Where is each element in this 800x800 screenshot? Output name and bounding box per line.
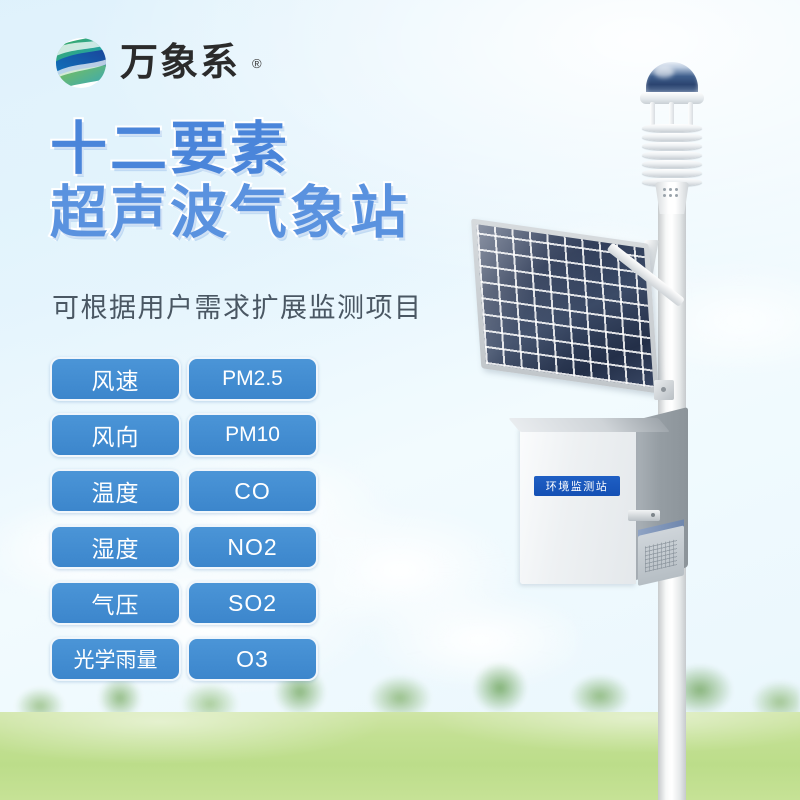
pole-mount-plate [654,380,674,400]
brand-name: 万象系 [120,44,240,82]
headline-line-2: 超声波气象站 [50,182,490,246]
panel-glare [476,224,653,388]
enclosure-top-panel [508,418,670,432]
radiation-shield [642,124,702,186]
brand-lockup: 万象系 ® [52,34,262,92]
ultrasonic-weather-sensor [636,62,708,232]
measurement-tag[interactable]: SO2 [187,581,318,625]
measurement-tag[interactable]: 风向 [50,413,181,457]
subtitle: 可根据用户需求扩展监测项目 [52,286,423,325]
headline-block: 十二要素 超声波气象站 [50,118,490,246]
enclosure-front-panel [520,426,636,584]
measurement-tag[interactable]: 风速 [50,357,181,401]
measurement-tag[interactable]: 气压 [50,581,181,625]
sensor-dome-icon [646,62,698,96]
measurement-tag[interactable]: PM2.5 [187,357,318,401]
measurement-tag[interactable]: NO2 [187,525,318,569]
globe-swirl-logo-icon [52,34,110,92]
enclosure-vent-grille [638,525,684,586]
measurement-tag[interactable]: 湿度 [50,525,181,569]
weather-station-illustration: 环境监测站 [440,40,800,800]
enclosure-latch [628,510,660,521]
sensor-post [650,102,655,126]
product-poster: 环境监测站 [0,0,800,800]
equipment-enclosure: 环境监测站 [520,418,688,588]
headline-line-1: 十二要素 [50,118,490,182]
registered-trademark-icon: ® [252,56,262,71]
sensor-post [669,102,674,126]
measurement-tag[interactable]: 光学雨量 [50,637,181,681]
sensor-neck [655,182,689,214]
enclosure-label: 环境监测站 [534,476,620,496]
solar-panel [471,218,659,393]
measurement-tag[interactable]: 温度 [50,469,181,513]
measurement-tag-grid: 风速PM2.5风向PM10温度CO湿度NO2气压SO2光学雨量O3 [50,357,318,681]
measurement-tag[interactable]: O3 [187,637,318,681]
measurement-tag[interactable]: PM10 [187,413,318,457]
measurement-tag[interactable]: CO [187,469,318,513]
sensor-post [688,102,693,126]
